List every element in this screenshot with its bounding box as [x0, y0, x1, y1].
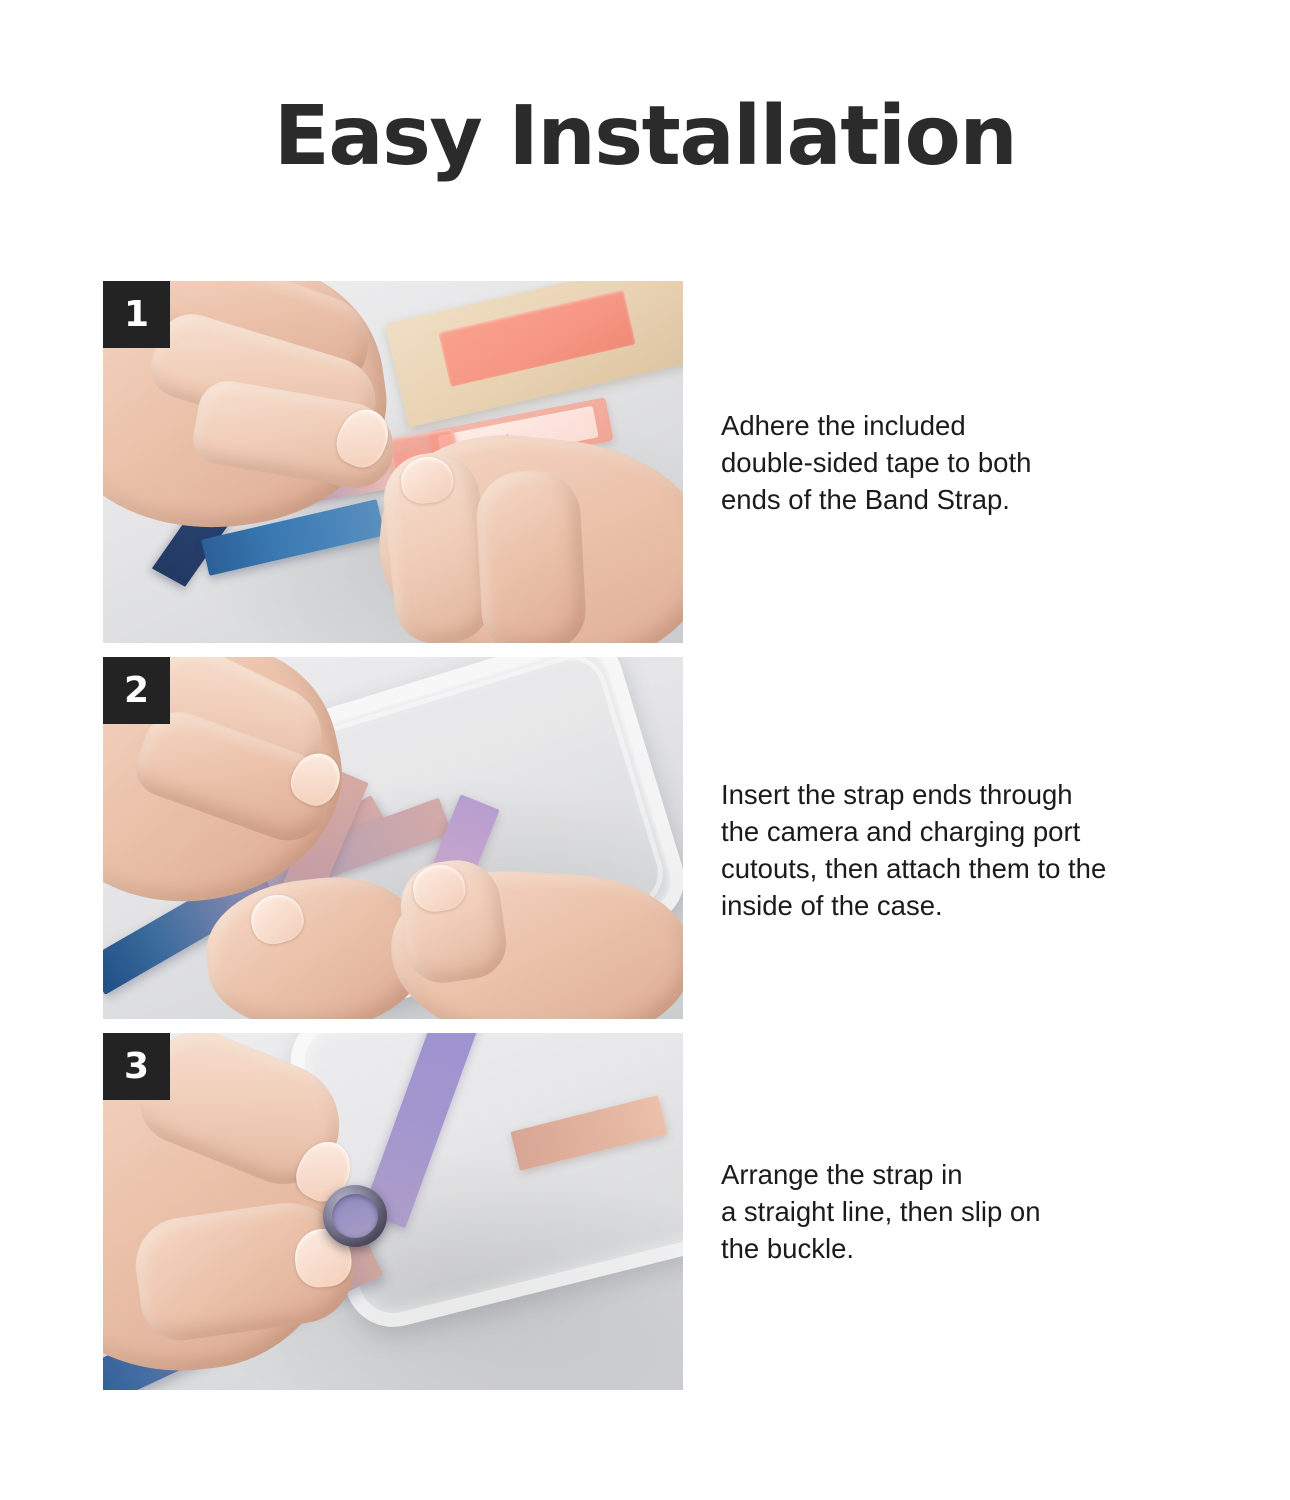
step-2-number-badge: 2: [103, 657, 170, 724]
right-middle-finger: [474, 468, 587, 643]
step-1-scene: RINGKE: [103, 281, 683, 643]
pink-tape-strip: [438, 290, 636, 387]
step-2: 2 Insert the strap ends through the came…: [0, 657, 1290, 1019]
buckle-opening: [332, 1194, 378, 1238]
step-3-photo: 3: [103, 1033, 683, 1390]
step-3: 3 Arrange the strap in a straight line, …: [0, 1033, 1290, 1390]
page-title: Easy Installation: [0, 96, 1290, 178]
step-3-description: Arrange the strap in a straight line, th…: [721, 1156, 1191, 1267]
step-3-scene: [103, 1033, 683, 1390]
step-1-description: Adhere the included double-sided tape to…: [721, 407, 1191, 518]
step-1: RINGKE 1 Adhere the included double-side…: [0, 281, 1290, 643]
step-1-photo: RINGKE 1: [103, 281, 683, 643]
step-2-photo: 2: [103, 657, 683, 1019]
ring-buckle: [323, 1185, 387, 1247]
step-3-number-badge: 3: [103, 1033, 170, 1100]
step-2-scene: [103, 657, 683, 1019]
step-2-description: Insert the strap ends through the camera…: [721, 776, 1191, 924]
step-1-number-badge: 1: [103, 281, 170, 348]
installation-guide-page: Easy Installation RINGKE: [0, 0, 1290, 1500]
